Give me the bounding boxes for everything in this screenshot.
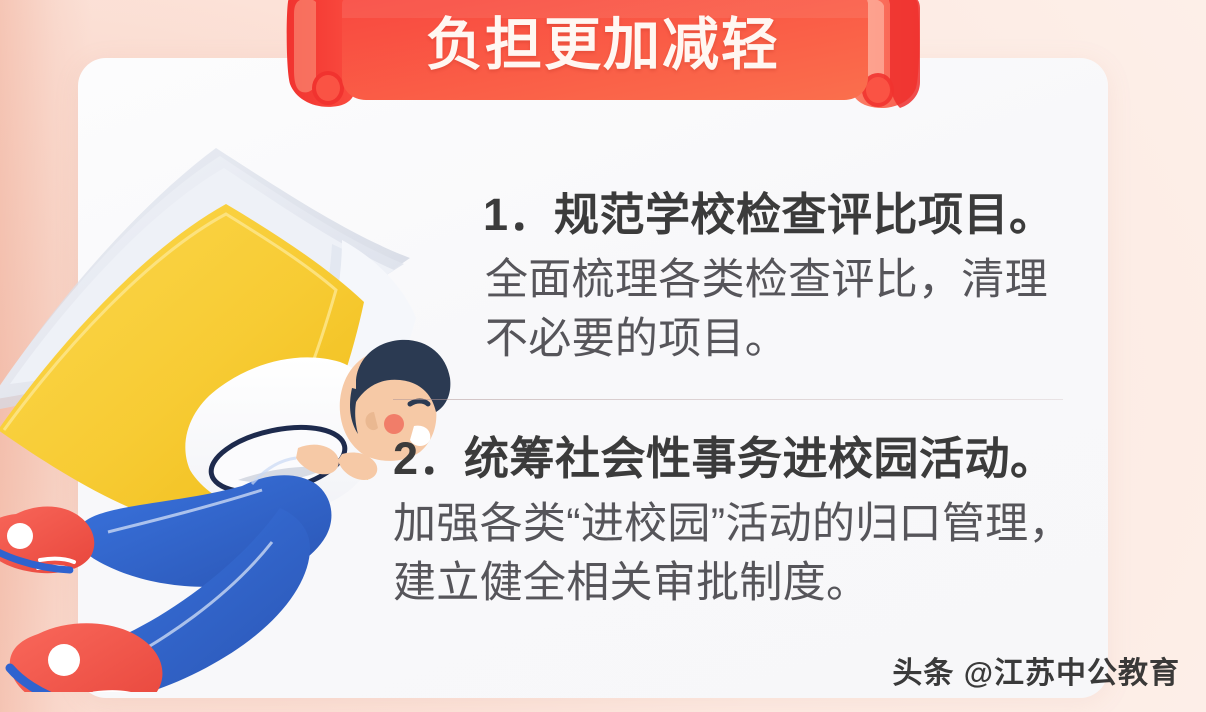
list-item-1: 1．规范学校检查评比项目。 全面梳理各类检查评比，清理不必要的项目。 — [393, 186, 1073, 369]
poster-canvas: 负担更加减轻 1．规范学校检查评比项目。 全面梳理各类检查评比，清理不必要的项目… — [0, 0, 1206, 712]
item-1-heading: 1．规范学校检查评比项目。 — [483, 186, 1073, 245]
watermark-text: 头条 @江苏中公教育 — [892, 648, 1180, 692]
section-divider — [393, 399, 1063, 400]
item-2-body: 加强各类“进校园”活动的归口管理，建立健全相关审批制度。 — [393, 495, 1073, 614]
banner-title: 负担更加减轻 — [282, 0, 924, 100]
item-2-heading: 2．统筹社会性事务进校园活动。 — [393, 430, 1073, 489]
content-column: 1．规范学校检查评比项目。 全面梳理各类检查评比，清理不必要的项目。 2．统筹社… — [393, 186, 1073, 613]
list-item-2: 2．统筹社会性事务进校园活动。 加强各类“进校园”活动的归口管理，建立健全相关审… — [393, 430, 1073, 613]
item-1-body: 全面梳理各类检查评比，清理不必要的项目。 — [485, 251, 1073, 370]
title-banner: 负担更加减轻 — [282, 0, 924, 112]
